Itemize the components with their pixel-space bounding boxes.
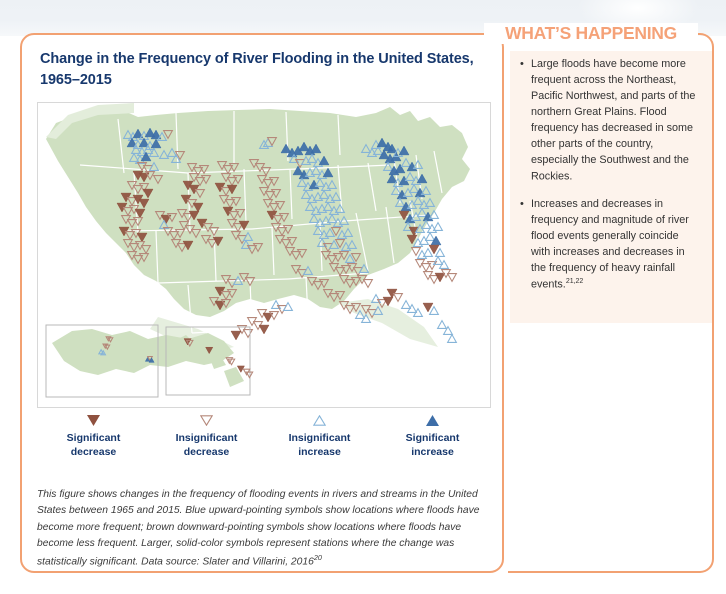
caption-text: This figure shows changes in the frequen… xyxy=(37,489,479,567)
panel-bullet-list: Large floods have become more frequent a… xyxy=(520,57,700,294)
map-marker-sd[interactable] xyxy=(231,331,241,340)
map-marker-id[interactable] xyxy=(394,294,403,302)
filled-down-triangle-icon xyxy=(37,413,150,428)
list-item: Large floods have become more frequent a… xyxy=(520,57,700,185)
legend-label-line2: increase xyxy=(411,446,454,458)
figure-card: Change in the Frequency of River Floodin… xyxy=(20,33,504,573)
map-inset-layer xyxy=(46,325,253,397)
map-marker-sd[interactable] xyxy=(435,273,445,282)
legend-label-line1: Insignificant xyxy=(289,432,351,444)
panel-heading: WHAT’S HAPPENING xyxy=(484,23,698,44)
legend-label-line2: decrease xyxy=(184,446,230,458)
map-marker-ii[interactable] xyxy=(438,321,447,329)
figure-title: Change in the Frequency of River Floodin… xyxy=(40,49,484,91)
what-is-happening-panel: WHAT’S HAPPENING Large floods have becom… xyxy=(508,33,714,573)
map-marker-id[interactable] xyxy=(364,280,373,288)
outline-up-triangle-icon xyxy=(263,413,376,428)
filled-up-triangle-icon xyxy=(376,413,489,428)
legend-item-significant-increase[interactable]: Significant increase xyxy=(376,413,489,475)
map-marker-ii[interactable] xyxy=(436,249,445,257)
legend-label-line2: decrease xyxy=(71,446,117,458)
bullet-text: Increases and decreases in frequency and… xyxy=(531,198,689,290)
map-marker-ii[interactable] xyxy=(448,335,457,343)
legend-label-line1: Insignificant xyxy=(176,432,238,444)
bullet-reference: 21,22 xyxy=(566,278,584,285)
legend-item-significant-decrease[interactable]: Significant decrease xyxy=(37,413,150,475)
map-marker-ii[interactable] xyxy=(402,301,411,309)
legend-item-insignificant-decrease[interactable]: Insignificant decrease xyxy=(150,413,263,475)
legend-label-line1: Significant xyxy=(67,432,121,444)
map-legend: Significant decrease Insignificant decre… xyxy=(37,413,489,475)
map-frame xyxy=(37,102,491,408)
caption-reference: 20 xyxy=(314,553,322,562)
map-marker-ii[interactable] xyxy=(430,307,439,315)
map-marker-ii[interactable] xyxy=(426,233,435,241)
map-marker-id[interactable] xyxy=(448,274,457,282)
bullet-text: Large floods have become more frequent a… xyxy=(531,58,695,182)
outline-down-triangle-icon xyxy=(150,413,263,428)
panel-body: Large floods have become more frequent a… xyxy=(510,51,712,323)
legend-item-insignificant-increase[interactable]: Insignificant increase xyxy=(263,413,376,475)
map-marker-ii[interactable] xyxy=(444,327,453,335)
legend-label-line2: increase xyxy=(298,446,341,458)
legend-label-line1: Significant xyxy=(406,432,460,444)
figure-caption: This figure shows changes in the frequen… xyxy=(37,487,493,571)
us-map[interactable] xyxy=(38,103,490,407)
map-marker-id[interactable] xyxy=(244,330,253,338)
list-item: Increases and decreases in frequency and… xyxy=(520,197,700,293)
